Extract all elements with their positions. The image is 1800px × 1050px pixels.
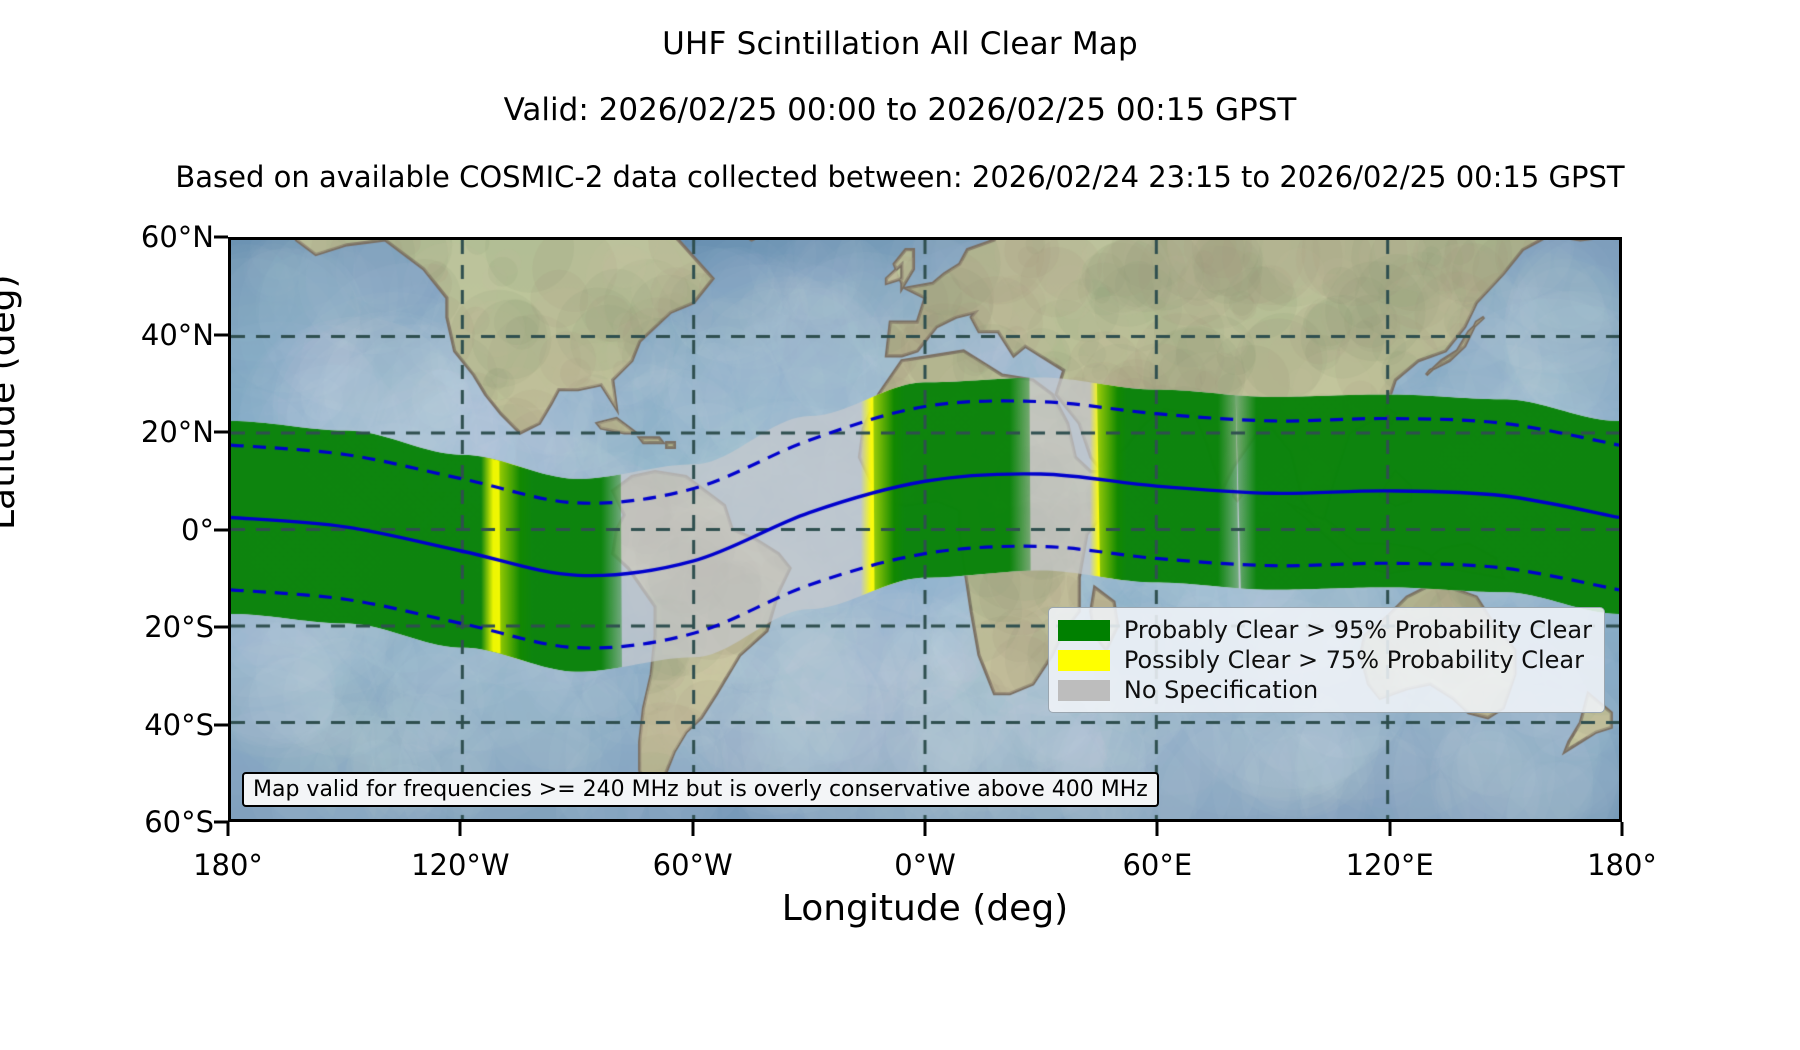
legend-swatch-green bbox=[1058, 620, 1110, 641]
y-tick-label: 0° bbox=[181, 513, 214, 547]
x-tick-label: 120°W bbox=[411, 848, 510, 882]
y-tick-mark bbox=[214, 333, 228, 336]
y-tick-mark bbox=[214, 431, 228, 434]
legend-item-no-specification: No Specification bbox=[1058, 675, 1592, 705]
x-tick-label: 60°W bbox=[653, 848, 733, 882]
legend-label-no-specification: No Specification bbox=[1124, 676, 1318, 704]
frequency-validity-note: Map valid for frequencies >= 240 MHz but… bbox=[242, 772, 1159, 807]
x-tick-mark bbox=[924, 822, 927, 836]
x-tick-label: 0°W bbox=[894, 848, 956, 882]
y-tick-label: 40°N bbox=[141, 318, 214, 352]
y-tick-label: 40°S bbox=[144, 708, 214, 742]
y-tick-label: 20°S bbox=[144, 610, 214, 644]
y-axis-ticks: 60°N40°N20°N0°20°S40°S60°S bbox=[0, 237, 228, 822]
y-tick-label: 60°S bbox=[144, 805, 214, 839]
x-tick-label: 180° bbox=[193, 848, 263, 882]
data-source-note: Based on available COSMIC-2 data collect… bbox=[0, 160, 1800, 194]
legend-item-possibly-clear: Possibly Clear > 75% Probability Clear bbox=[1058, 645, 1592, 675]
legend-swatch-gray bbox=[1058, 680, 1110, 701]
x-tick-mark bbox=[1388, 822, 1391, 836]
legend-item-probably-clear: Probably Clear > 95% Probability Clear bbox=[1058, 615, 1592, 645]
legend-label-possibly-clear: Possibly Clear > 75% Probability Clear bbox=[1124, 646, 1584, 674]
x-tick-mark bbox=[691, 822, 694, 836]
world-map-canvas bbox=[231, 240, 1619, 819]
y-tick-label: 20°N bbox=[141, 415, 214, 449]
y-tick-label: 60°N bbox=[141, 220, 214, 254]
page-title: UHF Scintillation All Clear Map bbox=[0, 26, 1800, 62]
x-tick-mark bbox=[227, 822, 230, 836]
y-tick-mark bbox=[214, 528, 228, 531]
x-tick-mark bbox=[459, 822, 462, 836]
legend-swatch-yellow bbox=[1058, 650, 1110, 671]
legend: Probably Clear > 95% Probability Clear P… bbox=[1048, 607, 1605, 713]
title-block: UHF Scintillation All Clear Map Valid: 2… bbox=[0, 0, 1800, 194]
y-tick-mark bbox=[214, 626, 228, 629]
y-tick-mark bbox=[214, 236, 228, 239]
legend-label-probably-clear: Probably Clear > 95% Probability Clear bbox=[1124, 616, 1592, 644]
x-axis-label: Longitude (deg) bbox=[228, 888, 1622, 929]
x-tick-label: 60°E bbox=[1122, 848, 1192, 882]
x-tick-label: 120°E bbox=[1346, 848, 1434, 882]
x-tick-label: 180° bbox=[1587, 848, 1657, 882]
map-plot-area[interactable]: Probably Clear > 95% Probability Clear P… bbox=[228, 237, 1622, 822]
x-tick-mark bbox=[1621, 822, 1624, 836]
x-tick-mark bbox=[1156, 822, 1159, 836]
valid-period: Valid: 2026/02/25 00:00 to 2026/02/25 00… bbox=[0, 92, 1800, 128]
y-tick-mark bbox=[214, 723, 228, 726]
y-axis-label: Latitude (deg) bbox=[0, 274, 23, 530]
